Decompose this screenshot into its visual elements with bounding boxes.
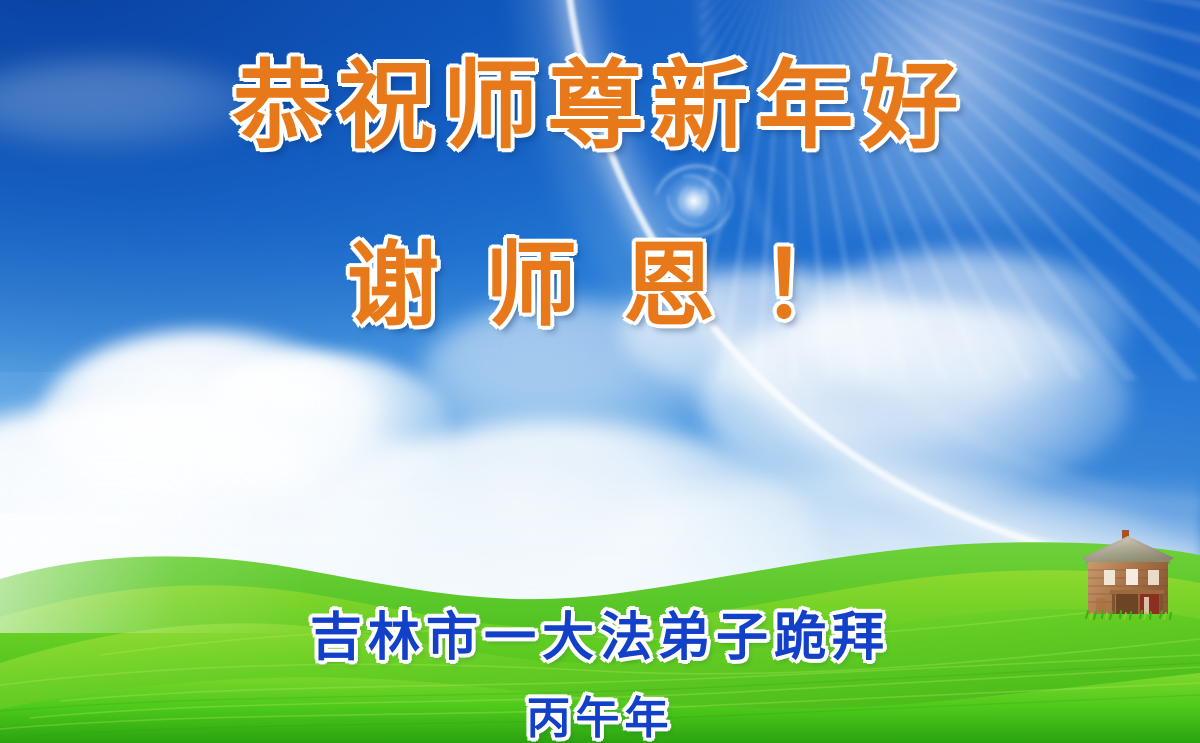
greeting-title-line-1: 恭祝师尊新年好 [0,58,1200,154]
signature-year: 丙午年 [0,682,1200,743]
window [1104,570,1115,585]
greeting-card: 恭祝师尊新年好 谢师恩！ 吉林市一大法弟子跪拜 丙午年 [0,0,1200,743]
signature-attribution: 吉林市一大法弟子跪拜 [0,595,1200,670]
porch-roof [1110,590,1164,594]
greeting-title-line-2: 谢师恩！ [0,240,1200,332]
window [1126,569,1138,585]
window [1148,570,1159,585]
